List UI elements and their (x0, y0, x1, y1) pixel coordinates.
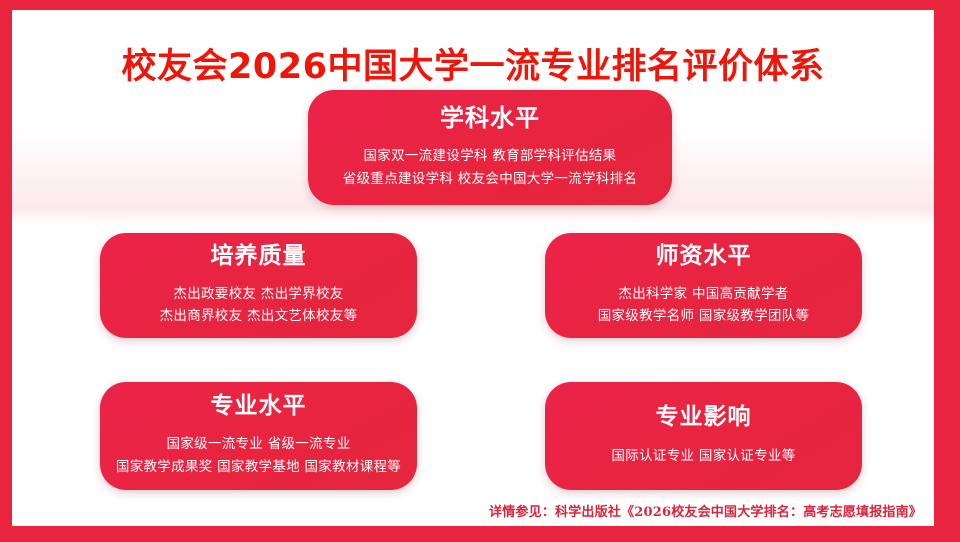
card-major-influence-line-1: 国际认证专业 国家认证专业等 (612, 445, 796, 467)
card-training-quality-title: 培养质量 (211, 244, 307, 269)
card-training-quality-lines: 杰出政要校友 杰出学界校友 杰出商界校友 杰出文艺体校友等 (160, 283, 358, 328)
card-training-quality-line-2: 杰出商界校友 杰出文艺体校友等 (160, 305, 358, 327)
card-faculty-level[interactable]: 师资水平 杰出科学家 中国高贡献学者 国家级教学名师 国家级教学团队等 (545, 233, 862, 338)
poster-canvas: 校友会2026中国大学一流专业排名评价体系 学科水平 国家双一流建设学科 教育部… (12, 10, 934, 526)
frame-border-top (0, 0, 960, 10)
card-discipline[interactable]: 学科水平 国家双一流建设学科 教育部学科评估结果 省级重点建设学科 校友会中国大… (308, 90, 672, 205)
card-faculty-level-line-1: 杰出科学家 中国高贡献学者 (598, 283, 810, 305)
card-faculty-level-lines: 杰出科学家 中国高贡献学者 国家级教学名师 国家级教学团队等 (598, 283, 810, 328)
card-discipline-line-1: 国家双一流建设学科 教育部学科评估结果 (343, 145, 637, 167)
card-major-influence-lines: 国际认证专业 国家认证专业等 (612, 445, 796, 467)
card-training-quality[interactable]: 培养质量 杰出政要校友 杰出学界校友 杰出商界校友 杰出文艺体校友等 (100, 233, 417, 338)
card-major-level-title: 专业水平 (211, 394, 307, 419)
page-title: 校友会2026中国大学一流专业排名评价体系 (12, 38, 934, 89)
card-major-influence[interactable]: 专业影响 国际认证专业 国家认证专业等 (545, 382, 862, 490)
card-faculty-level-title: 师资水平 (656, 244, 752, 269)
card-faculty-level-line-2: 国家级教学名师 国家级教学团队等 (598, 305, 810, 327)
card-major-level-lines: 国家级一流专业 省级一流专业 国家教学成果奖 国家教学基地 国家教材课程等 (116, 433, 401, 478)
card-discipline-line-2: 省级重点建设学科 校友会中国大学一流学科排名 (343, 168, 637, 190)
card-major-level-line-2: 国家教学成果奖 国家教学基地 国家教材课程等 (116, 456, 401, 478)
card-major-level-line-1: 国家级一流专业 省级一流专业 (116, 433, 401, 455)
source-footnote: 详情参见：科学出版社《2026校友会中国大学排名：高考志愿填报指南》 (489, 501, 922, 520)
card-discipline-lines: 国家双一流建设学科 教育部学科评估结果 省级重点建设学科 校友会中国大学一流学科… (343, 145, 637, 190)
frame-border-bottom (0, 526, 960, 542)
card-major-level[interactable]: 专业水平 国家级一流专业 省级一流专业 国家教学成果奖 国家教学基地 国家教材课… (100, 382, 417, 490)
poster-root: 校友会2026中国大学一流专业排名评价体系 学科水平 国家双一流建设学科 教育部… (0, 0, 960, 542)
card-major-influence-title: 专业影响 (656, 405, 752, 430)
frame-border-right (934, 0, 960, 542)
frame-border-left (0, 0, 12, 542)
card-discipline-title: 学科水平 (440, 105, 540, 131)
card-training-quality-line-1: 杰出政要校友 杰出学界校友 (160, 283, 358, 305)
